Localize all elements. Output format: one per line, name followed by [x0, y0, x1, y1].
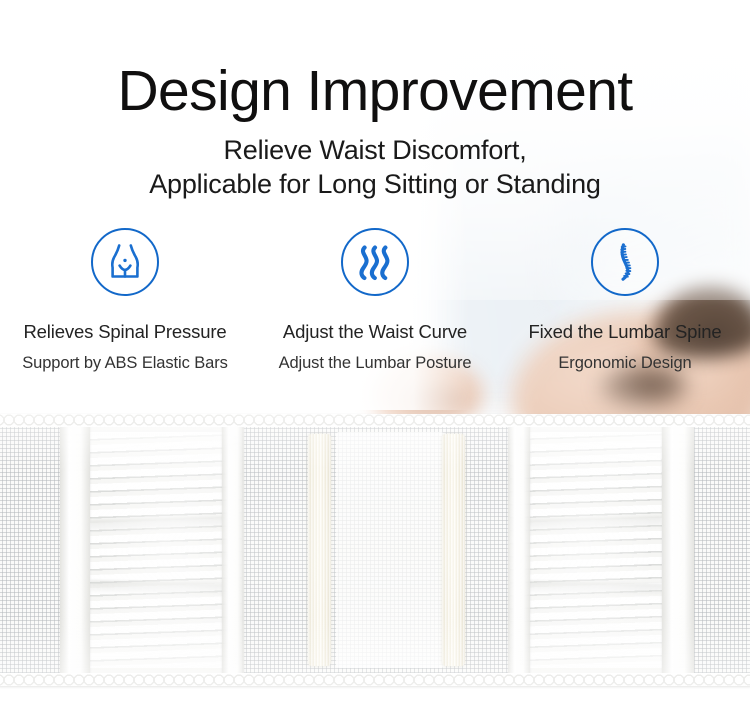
belt-mesh-panel-right — [694, 427, 750, 673]
feature-icon-circle — [341, 228, 409, 296]
product-marketing-poster: Design Improvement Relieve Waist Discomf… — [0, 0, 750, 707]
heat-waves-icon — [353, 240, 397, 284]
belt-strap-crease — [90, 516, 242, 534]
feature-icon-circle — [591, 228, 659, 296]
headline-block: Design Improvement Relieve Waist Discomf… — [0, 62, 750, 201]
subtitle-line-2: Applicable for Long Sitting or Standing — [0, 167, 750, 201]
belt-elastic-straps-left — [90, 432, 242, 668]
belt-center-panel — [336, 432, 444, 668]
belt-abs-support-bar — [308, 434, 331, 666]
feature-title: Relieves Spinal Pressure — [23, 321, 226, 343]
torso-abdomen-icon — [103, 240, 147, 284]
belt-bottom-binding — [0, 673, 750, 686]
belt-strap-crease — [90, 580, 242, 598]
belt-top-binding — [0, 414, 750, 427]
belt-vertical-seam — [662, 422, 694, 678]
product-image-lumbar-support-belt — [0, 408, 750, 690]
feature-icon-circle — [91, 228, 159, 296]
feature-list: Relieves Spinal Pressure Support by ABS … — [0, 228, 750, 373]
belt-elastic-straps-right — [510, 432, 662, 668]
feature-subtitle: Adjust the Lumbar Posture — [279, 354, 472, 373]
belt-vertical-seam — [508, 422, 530, 678]
feature-title: Adjust the Waist Curve — [283, 321, 467, 343]
spine-icon — [603, 240, 647, 284]
belt-vertical-seam — [60, 422, 90, 678]
page-title: Design Improvement — [0, 62, 750, 121]
belt-strap-crease — [510, 580, 662, 598]
belt-strap-crease — [510, 516, 662, 534]
feature-subtitle: Support by ABS Elastic Bars — [22, 354, 227, 373]
feature-item-spinal-pressure: Relieves Spinal Pressure Support by ABS … — [0, 228, 250, 373]
feature-item-waist-curve: Adjust the Waist Curve Adjust the Lumbar… — [250, 228, 500, 373]
subtitle-line-1: Relieve Waist Discomfort, — [0, 133, 750, 167]
subtitle: Relieve Waist Discomfort, Applicable for… — [0, 133, 750, 201]
belt-abs-support-bar — [442, 434, 465, 666]
belt-mesh-panel-left — [0, 427, 60, 673]
belt-body — [0, 414, 750, 686]
belt-vertical-seam — [222, 422, 244, 678]
feature-subtitle: Ergonomic Design — [558, 354, 691, 373]
feature-title: Fixed the Lumbar Spine — [528, 321, 721, 343]
feature-item-lumbar-spine: Fixed the Lumbar Spine Ergonomic Design — [500, 228, 750, 373]
